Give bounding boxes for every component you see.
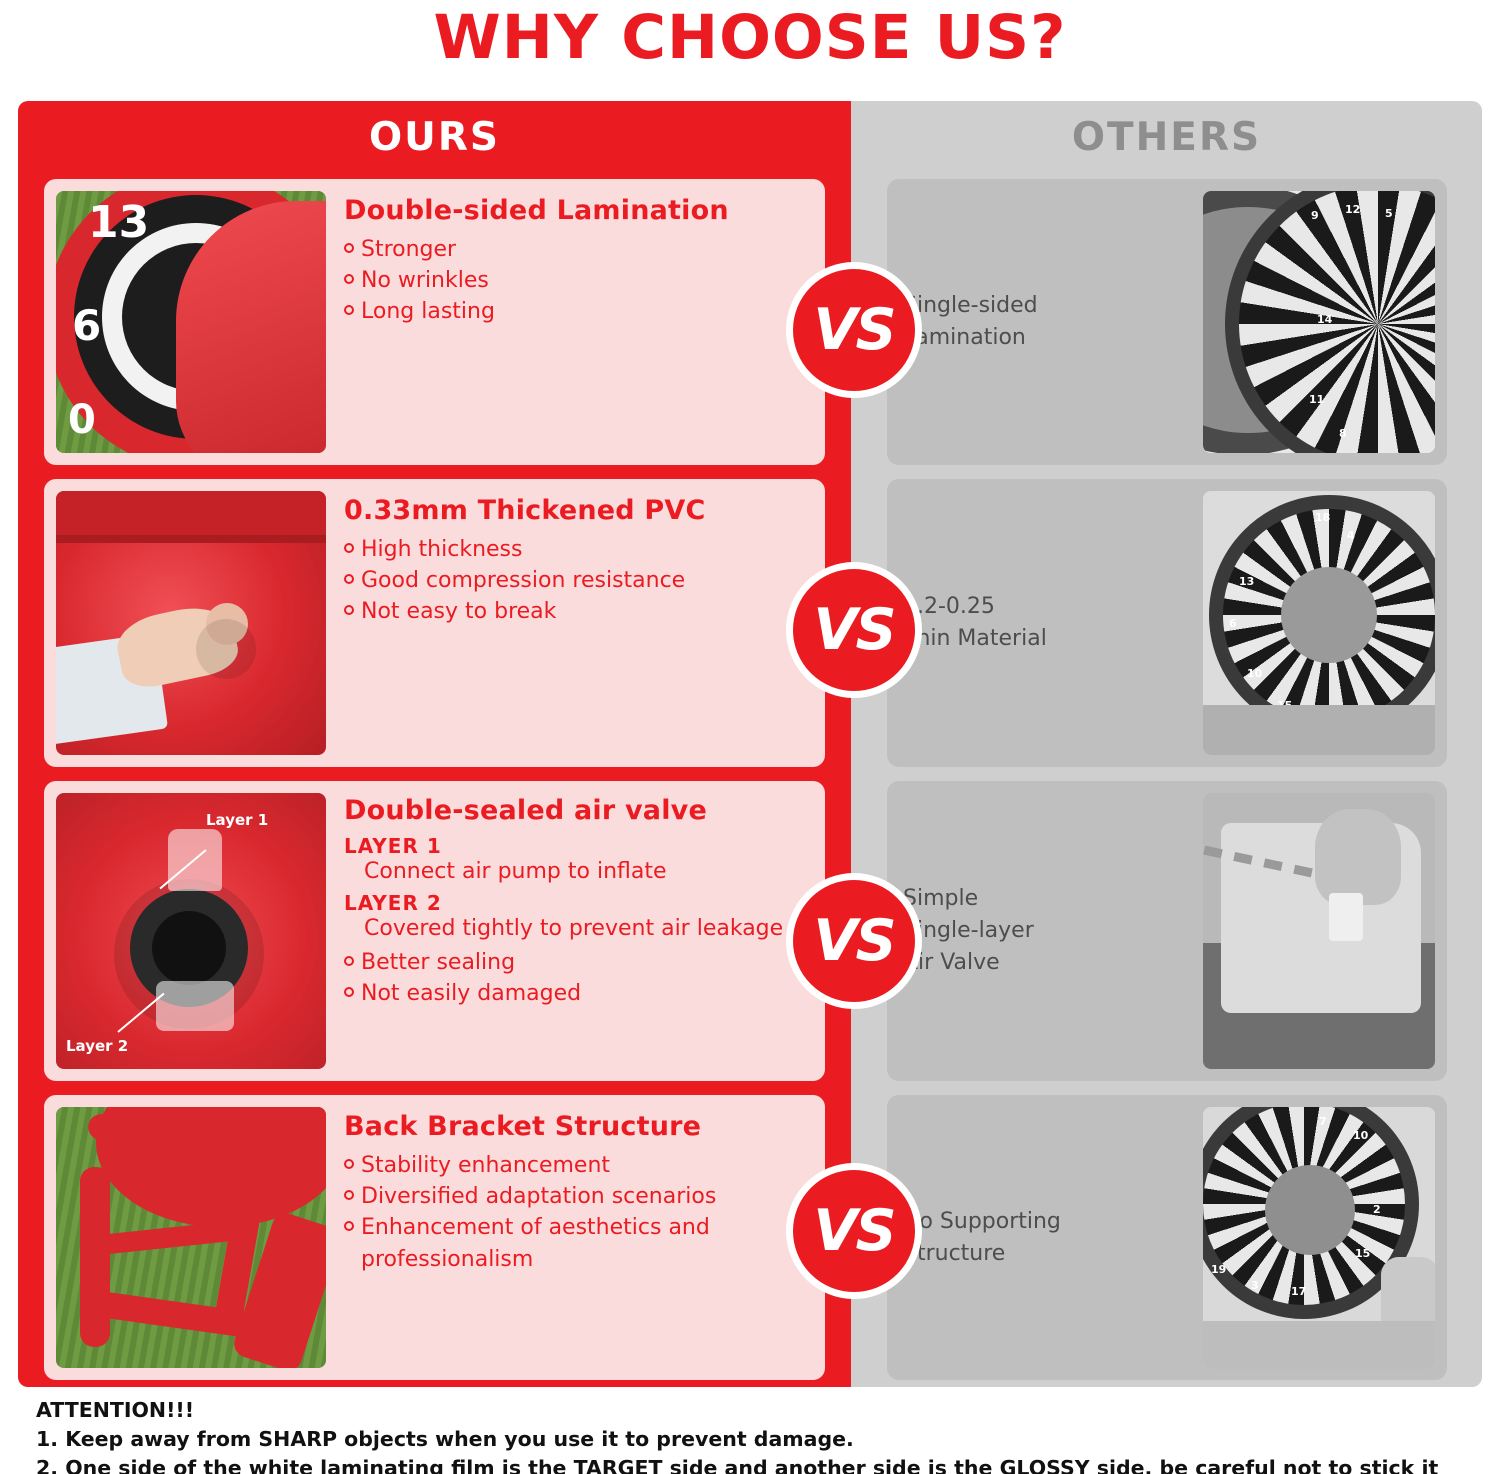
feature-bullet: No wrinkles xyxy=(344,265,813,296)
bullet-dot-icon xyxy=(344,956,354,966)
board-number: 11 xyxy=(1309,393,1324,406)
bullet-text: Stronger xyxy=(361,234,456,265)
others-text-air-valve: Simple Single-layer Air Valve xyxy=(887,883,1191,979)
board-number: 13 xyxy=(1239,575,1254,588)
feature-bullet: Long lasting xyxy=(344,296,813,327)
bullet-dot-icon xyxy=(344,1190,354,1200)
others-image-lamination: 9 12 5 14 11 8 xyxy=(1203,191,1435,453)
bullet-text: Better sealing xyxy=(361,947,515,978)
feature-title: Double-sealed air valve xyxy=(344,795,813,826)
others-card-thin-material: 0.2-0.25 Thin Material 18 4 13 6 10 15 xyxy=(887,479,1447,767)
feature-bullet: Diversified adaptation scenarios xyxy=(344,1181,813,1212)
others-card-no-support: No Supporting Structure 7 10 2 15 19 3 1… xyxy=(887,1095,1447,1380)
others-text-no-support: No Supporting Structure xyxy=(887,1206,1191,1270)
board-number: 3 xyxy=(1251,1279,1259,1292)
board-number-6: 6 xyxy=(72,301,101,350)
bullet-text: Enhancement of aesthetics and profession… xyxy=(361,1212,813,1274)
bullet-dot-icon xyxy=(344,1159,354,1169)
others-text-thin-material: 0.2-0.25 Thin Material xyxy=(887,591,1191,655)
ours-rows: 13 6 0 Double-sided Lamination Stronger … xyxy=(44,179,825,1394)
feature-bullet: Not easily damaged xyxy=(344,978,813,1009)
board-number: 18 xyxy=(1315,511,1330,524)
board-number-0: 0 xyxy=(68,397,96,443)
feature-title: Double-sided Lamination xyxy=(344,195,813,226)
attention-line-2: 2. One side of the white laminating film… xyxy=(36,1454,1476,1474)
feature-bullet: Not easy to break xyxy=(344,596,813,627)
vs-badge-2: VS xyxy=(786,562,922,698)
bullet-dot-icon xyxy=(344,274,354,284)
feature-bullet: Stronger xyxy=(344,234,813,265)
board-number: 6 xyxy=(1229,617,1237,630)
bullet-dot-icon xyxy=(344,987,354,997)
feature-title: 0.33mm Thickened PVC xyxy=(344,495,813,526)
board-number-13: 13 xyxy=(88,197,149,248)
attention-line-1: 1. Keep away from SHARP objects when you… xyxy=(36,1425,1476,1454)
board-number: 17 xyxy=(1291,1285,1306,1298)
bullet-text: Good compression resistance xyxy=(361,565,685,596)
layer-label: LAYER 2 xyxy=(344,891,813,915)
board-number: 10 xyxy=(1247,667,1262,680)
page-title: WHY CHOOSE US? xyxy=(0,0,1500,70)
board-number: 5 xyxy=(1385,207,1393,220)
bullet-dot-icon xyxy=(344,1221,354,1231)
attention-block: ATTENTION!!! 1. Keep away from SHARP obj… xyxy=(36,1396,1476,1474)
ours-image-pvc xyxy=(56,491,326,755)
bullet-text: High thickness xyxy=(361,534,522,565)
vs-badge-4: VS xyxy=(786,1163,922,1299)
board-number: 2 xyxy=(1373,1203,1381,1216)
others-image-air-valve xyxy=(1203,793,1435,1069)
callout-layer-2: Layer 2 xyxy=(66,1037,128,1055)
bullet-dot-icon xyxy=(344,543,354,553)
ours-card-pvc: 0.33mm Thickened PVC High thickness Good… xyxy=(44,479,825,767)
board-number: 8 xyxy=(1339,427,1347,440)
bullet-dot-icon xyxy=(344,305,354,315)
bullet-text: Diversified adaptation scenarios xyxy=(361,1181,716,1212)
bullet-dot-icon xyxy=(344,243,354,253)
feature-title: Back Bracket Structure xyxy=(344,1111,813,1142)
bullet-text: Not easy to break xyxy=(361,596,556,627)
bullet-text: Long lasting xyxy=(361,296,495,327)
why-choose-us-infographic: WHY CHOOSE US? OURS 13 6 0 xyxy=(0,0,1500,1474)
feature-bullet: Stability enhancement xyxy=(344,1150,813,1181)
board-number: 19 xyxy=(1211,1263,1226,1276)
ours-card-bracket: Back Bracket Structure Stability enhance… xyxy=(44,1095,825,1380)
layer-text: Connect air pump to inflate xyxy=(344,858,813,887)
vs-badge-1: VS xyxy=(786,262,922,398)
others-image-thin-material: 18 4 13 6 10 15 xyxy=(1203,491,1435,755)
callout-layer-1: Layer 1 xyxy=(206,811,268,829)
ours-text-lamination: Double-sided Lamination Stronger No wrin… xyxy=(336,179,825,465)
ours-card-lamination: 13 6 0 Double-sided Lamination Stronger … xyxy=(44,179,825,465)
attention-heading: ATTENTION!!! xyxy=(36,1396,1476,1425)
ours-column-header: OURS xyxy=(18,101,851,160)
board-number: 15 xyxy=(1355,1247,1370,1260)
ours-text-bracket: Back Bracket Structure Stability enhance… xyxy=(336,1095,825,1380)
ours-image-bracket xyxy=(56,1107,326,1368)
others-column: OTHERS Single-sided Lamination 9 12 5 1 xyxy=(851,101,1482,1387)
bullet-dot-icon xyxy=(344,574,354,584)
others-text-lamination: Single-sided Lamination xyxy=(887,290,1191,354)
ours-image-lamination: 13 6 0 xyxy=(56,191,326,453)
bullet-text: Not easily damaged xyxy=(361,978,581,1009)
others-rows: Single-sided Lamination 9 12 5 14 11 8 xyxy=(887,179,1447,1394)
bullet-text: No wrinkles xyxy=(361,265,489,296)
board-number: 12 xyxy=(1345,203,1360,216)
board-number: 4 xyxy=(1347,529,1355,542)
ours-card-valve: Layer 1 Layer 2 Double-sealed air valve … xyxy=(44,781,825,1081)
layer-text: Covered tightly to prevent air leakage xyxy=(344,915,813,944)
feature-bullet: Enhancement of aesthetics and profession… xyxy=(344,1212,813,1274)
board-number: 7 xyxy=(1319,1115,1327,1128)
others-card-air-valve: Simple Single-layer Air Valve xyxy=(887,781,1447,1081)
others-card-lamination: Single-sided Lamination 9 12 5 14 11 8 xyxy=(887,179,1447,465)
bullet-dot-icon xyxy=(344,605,354,615)
ours-image-valve: Layer 1 Layer 2 xyxy=(56,793,326,1069)
vs-badge-3: VS xyxy=(786,873,922,1009)
feature-bullet: High thickness xyxy=(344,534,813,565)
bullet-text: Stability enhancement xyxy=(361,1150,610,1181)
ours-text-pvc: 0.33mm Thickened PVC High thickness Good… xyxy=(336,479,825,767)
ours-column: OURS 13 6 0 Do xyxy=(18,101,851,1387)
others-column-header: OTHERS xyxy=(851,101,1482,160)
feature-bullet: Good compression resistance xyxy=(344,565,813,596)
comparison-table: OURS 13 6 0 Do xyxy=(18,101,1482,1387)
ours-text-valve: Double-sealed air valve LAYER 1 Connect … xyxy=(336,781,825,1081)
board-number: 9 xyxy=(1311,209,1319,222)
board-number: 10 xyxy=(1353,1129,1368,1142)
others-image-no-support: 7 10 2 15 19 3 17 xyxy=(1203,1107,1435,1369)
layer-label: LAYER 1 xyxy=(344,834,813,858)
feature-bullet: Better sealing xyxy=(344,947,813,978)
board-number: 14 xyxy=(1317,313,1332,326)
